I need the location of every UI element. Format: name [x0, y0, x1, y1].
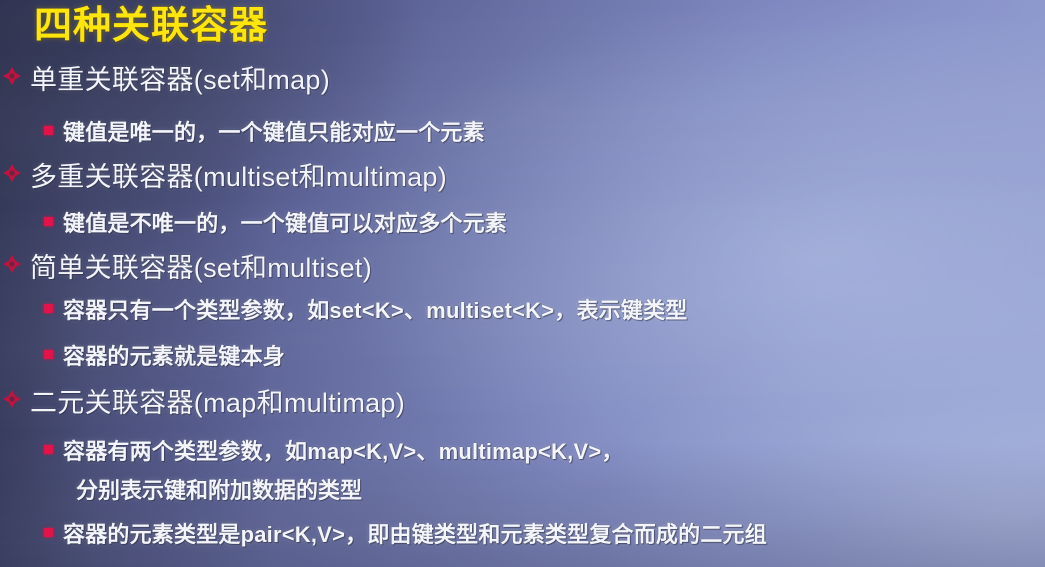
bullet-row-6: 容器只有一个类型参数，如set<K>、multiset<K>，表示键类型 [44, 293, 688, 325]
bullet-text: 容器的元素就是键本身 [63, 339, 285, 371]
bullet-row-4: 键值是不唯一的，一个键值可以对应多个元素 [44, 206, 507, 238]
square-bullet-icon [44, 217, 53, 226]
bullet-text: 容器只有一个类型参数，如set<K>、multiset<K>，表示键类型 [63, 293, 688, 325]
diamond-flower-bullet-icon [2, 163, 22, 183]
diamond-flower-bullet-icon [2, 254, 22, 274]
bullet-row-9: 容器有两个类型参数，如map<K,V>、multimap<K,V>， [44, 434, 624, 466]
bullet-text: 二元关联容器(map和multimap) [30, 381, 405, 420]
diamond-flower-bullet-icon [2, 66, 22, 86]
bullet-row-1: 单重关联容器(set和map) [0, 58, 330, 97]
presentation-slide: 四种关联容器 单重关联容器(set和map) 键值是唯一的，一个键值只能对 [0, 0, 1045, 567]
square-bullet-icon [44, 528, 53, 537]
bullet-row-7: 容器的元素就是键本身 [44, 339, 285, 371]
bullet-row-8: 二元关联容器(map和multimap) [0, 381, 405, 420]
bullet-row-2: 键值是唯一的，一个键值只能对应一个元素 [44, 115, 485, 147]
bullet-row-3: 多重关联容器(multiset和multimap) [0, 155, 447, 194]
bullet-text: 键值是不唯一的，一个键值可以对应多个元素 [63, 206, 507, 238]
bullet-text: 多重关联容器(multiset和multimap) [30, 155, 447, 194]
square-bullet-icon [44, 445, 53, 454]
bullet-row-5: 简单关联容器(set和multiset) [0, 246, 372, 285]
bullet-text: 简单关联容器(set和multiset) [30, 246, 372, 285]
bullet-text: 容器有两个类型参数，如map<K,V>、multimap<K,V>， [63, 434, 624, 466]
bullet-text: 键值是唯一的，一个键值只能对应一个元素 [63, 115, 485, 147]
bullet-text: 分别表示键和附加数据的类型 [76, 473, 362, 505]
slide-title: 四种关联容器 [34, 4, 268, 48]
square-bullet-icon [44, 350, 53, 359]
diamond-flower-bullet-icon [2, 389, 22, 409]
square-bullet-icon [44, 304, 53, 313]
bullet-text: 单重关联容器(set和map) [30, 58, 330, 97]
bullet-text: 容器的元素类型是pair<K,V>，即由键类型和元素类型复合而成的二元组 [63, 517, 767, 549]
bullet-row-10-continuation: 分别表示键和附加数据的类型 [76, 473, 362, 505]
square-bullet-icon [44, 126, 53, 135]
bullet-row-11: 容器的元素类型是pair<K,V>，即由键类型和元素类型复合而成的二元组 [44, 517, 767, 549]
